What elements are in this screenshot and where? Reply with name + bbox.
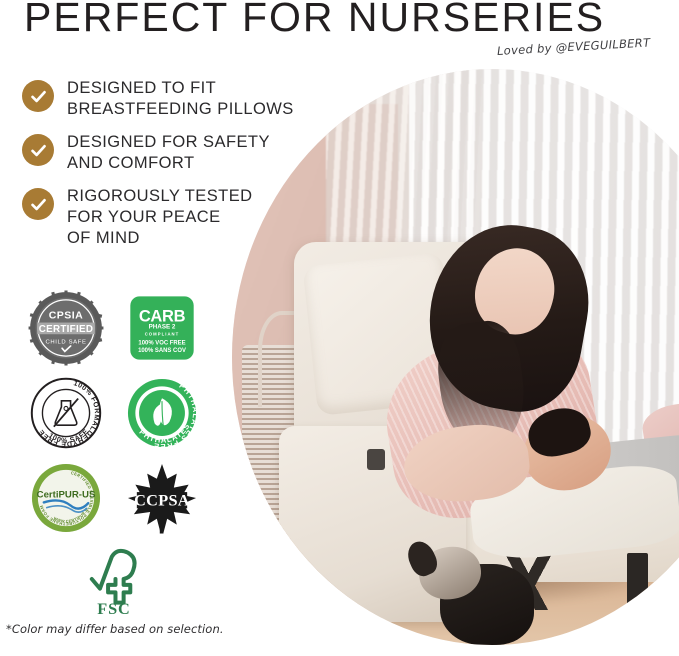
svg-text:CHILD SAFE: CHILD SAFE [45,339,86,345]
badge-row-3: CERTIFIED FLEXIBLE POLYURETHANE FOAM WWW… [18,455,210,540]
svg-text:CARB: CARB [139,307,186,325]
svg-text:100% SANS COV: 100% SANS COV [138,347,186,353]
feature-item-2: DESIGNED FOR SAFETY AND COMFORT [22,132,322,174]
svg-text:CertiPUR-US: CertiPUR-US [37,489,96,500]
badge-row-1: CPSIA CERTIFIED CHILD SAFE CARB PHASE 2 … [18,285,210,370]
recliner-leg [627,553,648,622]
feature-item-3: RIGOROUSLY TESTED FOR YOUR PEACE OF MIND [22,186,322,249]
feature-label: DESIGNED FOR SAFETY AND COMFORT [67,132,270,174]
svg-text:CCPSA: CCPSA [134,490,190,509]
fsc-badge: FSC [66,542,162,616]
phthalates-free-badge: PHTHALATES FREE PHTHALATES FREE [114,376,210,450]
formaldehyde-free-badge: 100% FORMALDEHYDE FREE 100% SAFE [18,375,114,451]
recliner-release-knob [367,449,385,470]
check-icon [22,134,54,166]
cpsia-certified-badge: CPSIA CERTIFIED CHILD SAFE [18,289,114,367]
certipur-us-badge: CERTIFIED FLEXIBLE POLYURETHANE FOAM WWW… [18,461,114,535]
svg-text:PHASE 2: PHASE 2 [149,323,176,330]
ccpsa-badge: CCPSA [114,461,210,535]
svg-text:CERTIFIED: CERTIFIED [39,323,94,334]
product-feature-panel: PERFECT FOR NURSERIES Loved by @EVEGUILB… [0,0,679,656]
svg-text:FSC: FSC [97,599,130,616]
feature-label: DESIGNED TO FIT BREASTFEEDING PILLOWS [67,78,294,120]
page-title: PERFECT FOR NURSERIES [24,0,605,41]
badge-row-2: 100% FORMALDEHYDE FREE 100% SAFE [18,370,210,455]
certification-badges: CPSIA CERTIFIED CHILD SAFE CARB PHASE 2 … [18,285,210,618]
feature-label: RIGOROUSLY TESTED FOR YOUR PEACE OF MIND [67,186,253,249]
svg-text:COMPLIANT: COMPLIANT [145,331,180,336]
badge-row-4: FSC [18,540,210,618]
check-icon [22,80,54,112]
check-icon [22,188,54,220]
svg-text:100% VOC FREE: 100% VOC FREE [138,340,185,346]
svg-text:CPSIA: CPSIA [49,309,83,321]
carb-phase-2-badge: CARB PHASE 2 COMPLIANT 100% VOC FREE 100… [114,295,210,361]
color-disclaimer: *Color may differ based on selection. [6,622,224,636]
feature-item-1: DESIGNED TO FIT BREASTFEEDING PILLOWS [22,78,322,120]
